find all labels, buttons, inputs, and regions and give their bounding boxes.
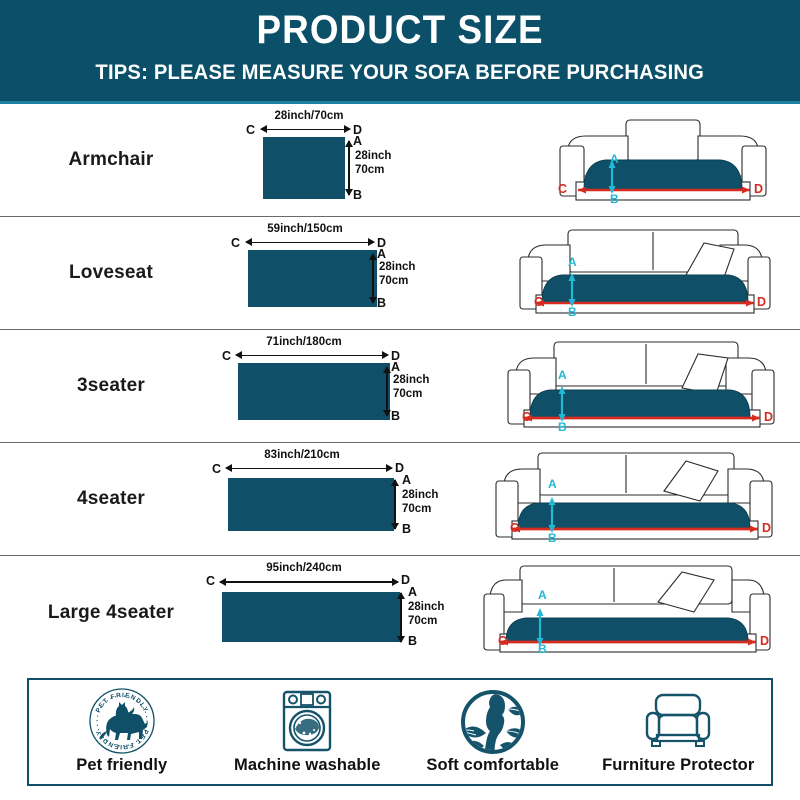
marker-b: B <box>558 420 567 434</box>
table-row: Large 4seater 95inch/240cm C D A B 28inc… <box>0 556 800 669</box>
width-arrow <box>220 581 398 583</box>
depth-arrow <box>386 367 388 416</box>
marker-c: C <box>222 350 231 363</box>
marker-c: C <box>246 124 255 137</box>
sofa-illustration-loveseat: A B C D <box>490 217 800 330</box>
page-title: PRODUCT SIZE <box>256 7 543 53</box>
header-banner: PRODUCT SIZE TIPS: PLEASE MEASURE YOUR S… <box>0 0 800 101</box>
row-label-loveseat: Loveseat <box>0 262 222 284</box>
marker-c: C <box>510 521 519 535</box>
width-arrow <box>236 355 388 357</box>
marker-c: C <box>231 237 240 250</box>
depth-arrow <box>372 254 374 303</box>
table-row: Loveseat 59inch/150cm C D A B 28inch 70c… <box>0 217 800 330</box>
dimension-diagram-armchair: 28inch/70cm C D A B 28inch 70cm <box>222 104 490 217</box>
width-label: 71inch/180cm <box>220 336 388 348</box>
feature-label-machine-washable: Machine washable <box>234 756 380 775</box>
marker-a: A <box>568 255 577 269</box>
marker-b: B <box>402 523 411 536</box>
feature-label-furniture-protector: Furniture Protector <box>602 756 754 775</box>
depth-inch-label: 28inch <box>408 601 444 615</box>
cushion-rect <box>238 363 390 420</box>
row-label-3seater: 3seater <box>0 375 222 397</box>
feature-label-soft-comfortable: Soft comfortable <box>426 756 559 775</box>
width-arrow <box>246 242 374 244</box>
marker-b: B <box>391 410 400 423</box>
depth-arrow <box>400 593 402 642</box>
marker-c: C <box>558 182 567 196</box>
table-row: 3seater 71inch/180cm C D A B 28inch 70cm <box>0 330 800 443</box>
marker-b: B <box>568 305 577 319</box>
row-label-large-4seater: Large 4seater <box>0 602 222 624</box>
sofa-illustration-3seater: A B C D <box>490 330 800 443</box>
product-size-infographic: PRODUCT SIZE TIPS: PLEASE MEASURE YOUR S… <box>0 0 800 800</box>
cushion-rect <box>228 478 394 531</box>
marker-a: A <box>558 368 567 382</box>
marker-a: A <box>408 586 417 599</box>
marker-c: C <box>498 634 507 648</box>
marker-c: C <box>522 410 531 424</box>
width-arrow <box>226 468 392 470</box>
feature-machine-washable: Machine washable <box>215 680 401 784</box>
marker-b: B <box>408 635 417 648</box>
depth-cm-label: 70cm <box>393 388 422 402</box>
depth-arrow <box>394 480 396 529</box>
marker-d: D <box>760 634 769 648</box>
width-arrow <box>261 129 350 131</box>
cushion-rect <box>248 250 377 307</box>
width-label: 83inch/210cm <box>210 449 394 461</box>
depth-inch-label: 28inch <box>393 374 429 388</box>
table-row: 4seater 83inch/210cm C D A B 28inch 70cm <box>0 443 800 556</box>
marker-d: D <box>764 410 773 424</box>
feature-soft-comfortable: Soft comfortable <box>400 680 586 784</box>
width-label: 28inch/70cm <box>254 110 364 122</box>
marker-b: B <box>548 531 557 545</box>
armchair-icon <box>640 686 716 758</box>
marker-c: C <box>534 295 543 309</box>
feature-bar: PET FRIENDLY PET FRIENDLY Pet friendly <box>27 678 773 786</box>
dimension-diagram-3seater: 71inch/180cm C D A B 28inch 70cm <box>222 330 490 443</box>
marker-d: D <box>754 182 763 196</box>
table-row: Armchair 28inch/70cm C D A B 28inch 70cm <box>0 104 800 217</box>
width-label: 59inch/150cm <box>230 223 380 235</box>
feature-label-pet-friendly: Pet friendly <box>76 756 167 775</box>
depth-cm-label: 70cm <box>379 275 408 289</box>
sofa-illustration-armchair: A B C D <box>490 104 800 217</box>
depth-cm-label: 70cm <box>402 503 431 517</box>
marker-d: D <box>762 521 771 535</box>
pet-friendly-stamp-icon: PET FRIENDLY PET FRIENDLY <box>85 686 159 758</box>
cushion-rect <box>263 137 345 199</box>
feature-furniture-protector: Furniture Protector <box>586 680 772 784</box>
marker-a: A <box>548 477 557 491</box>
marker-b: B <box>538 642 547 656</box>
dimension-diagram-4seater: 83inch/210cm C D A B 28inch 70cm <box>222 443 490 556</box>
washing-machine-icon <box>276 686 338 758</box>
depth-inch-label: 28inch <box>379 261 415 275</box>
size-table: Armchair 28inch/70cm C D A B 28inch 70cm <box>0 104 800 669</box>
marker-b: B <box>353 189 362 202</box>
width-label: 95inch/240cm <box>206 562 402 574</box>
marker-a: A <box>377 248 386 261</box>
page-subtitle: TIPS: PLEASE MEASURE YOUR SOFA BEFORE PU… <box>96 58 705 86</box>
marker-b: B <box>610 192 619 206</box>
dimension-diagram-large-4seater: 95inch/240cm C D A B 28inch 70cm <box>222 556 490 669</box>
sofa-illustration-4seater: A B C D <box>490 443 800 556</box>
cushion-rect <box>222 592 400 642</box>
row-label-4seater: 4seater <box>0 488 222 510</box>
depth-inch-label: 28inch <box>402 489 438 503</box>
marker-a: A <box>391 361 400 374</box>
depth-cm-label: 70cm <box>355 164 384 178</box>
depth-inch-label: 28inch <box>355 150 391 164</box>
depth-cm-label: 70cm <box>408 615 437 629</box>
feature-pet-friendly: PET FRIENDLY PET FRIENDLY Pet friendly <box>29 680 215 784</box>
marker-a: A <box>538 588 547 602</box>
marker-c: C <box>206 575 215 588</box>
marker-a: A <box>610 152 619 166</box>
marker-a: A <box>353 135 362 148</box>
marker-c: C <box>212 463 221 476</box>
soft-comfort-icon <box>456 686 530 758</box>
depth-arrow <box>348 141 350 195</box>
row-label-armchair: Armchair <box>0 149 222 171</box>
marker-d: D <box>757 295 766 309</box>
sofa-illustration-large-4seater: A B C D <box>490 556 800 669</box>
marker-a: A <box>402 474 411 487</box>
dimension-diagram-loveseat: 59inch/150cm C D A B 28inch 70cm <box>222 217 490 330</box>
marker-b: B <box>377 297 386 310</box>
